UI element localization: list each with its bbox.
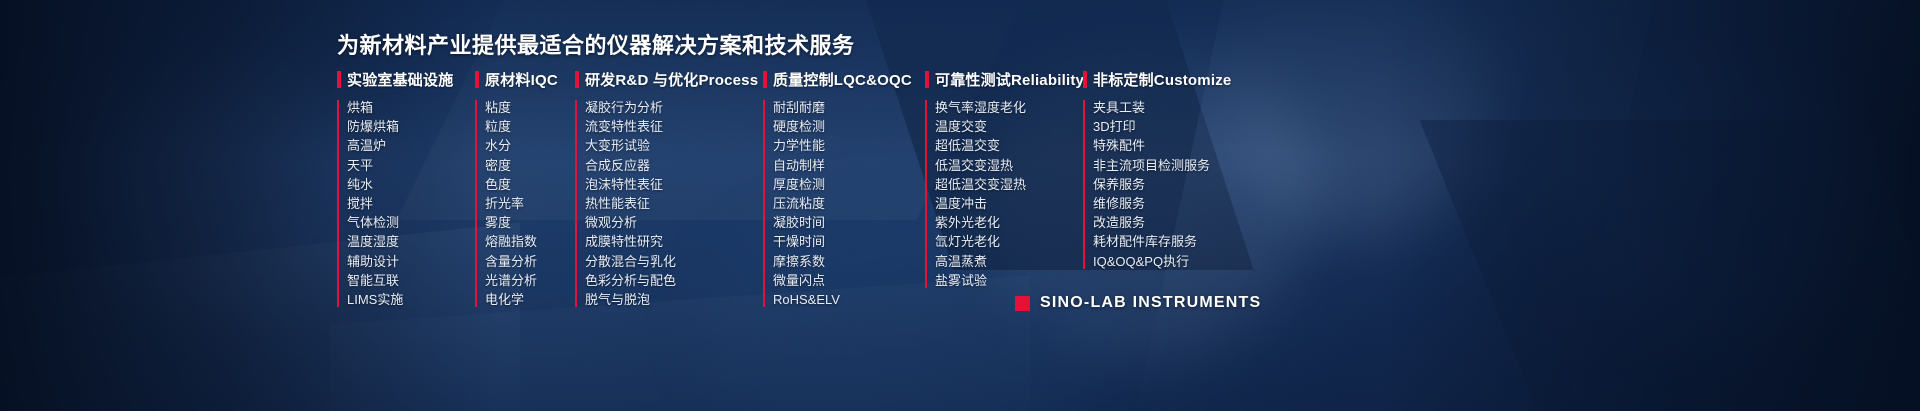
category-item[interactable]: 大变形试验 bbox=[585, 136, 763, 155]
category-title: 原材料IQC bbox=[485, 69, 558, 90]
category-item-list: 凝胶行为分析流变特性表征大变形试验合成反应器泡沫特性表征热性能表征微观分析成膜特… bbox=[575, 98, 763, 309]
category-item[interactable]: 压流粘度 bbox=[773, 194, 925, 213]
category-item[interactable]: 热性能表征 bbox=[585, 194, 763, 213]
category-item-list: 烘箱防爆烘箱高温炉天平纯水搅拌气体检测温度湿度辅助设计智能互联LIMS实施 bbox=[337, 98, 475, 309]
category-item[interactable]: 耗材配件库存服务 bbox=[1093, 232, 1253, 251]
category-header: 质量控制LQC&OQC bbox=[763, 68, 925, 90]
vertical-accent-rule bbox=[475, 100, 477, 307]
category-item[interactable]: 超低温交变 bbox=[935, 136, 1083, 155]
category-item[interactable]: 低温交变湿热 bbox=[935, 156, 1083, 175]
category-item[interactable]: 防爆烘箱 bbox=[347, 117, 475, 136]
category-title: 非标定制Customize bbox=[1093, 69, 1231, 90]
brand-logo: SINO-LAB INSTRUMENTS bbox=[1015, 294, 1261, 312]
category-item[interactable]: LIMS实施 bbox=[347, 290, 475, 309]
category-item[interactable]: 含量分析 bbox=[485, 252, 575, 271]
category-item[interactable]: 密度 bbox=[485, 156, 575, 175]
category-item[interactable]: 力学性能 bbox=[773, 136, 925, 155]
category-item[interactable]: 烘箱 bbox=[347, 98, 475, 117]
vertical-accent-rule bbox=[575, 100, 577, 307]
category-item[interactable]: 色度 bbox=[485, 175, 575, 194]
category-item[interactable]: 摩擦系数 bbox=[773, 252, 925, 271]
category-column: 实验室基础设施烘箱防爆烘箱高温炉天平纯水搅拌气体检测温度湿度辅助设计智能互联LI… bbox=[337, 68, 475, 309]
category-item[interactable]: 超低温交变湿热 bbox=[935, 175, 1083, 194]
category-item[interactable]: 厚度检测 bbox=[773, 175, 925, 194]
category-header: 研发R&D 与优化Process bbox=[575, 68, 763, 90]
category-title: 质量控制LQC&OQC bbox=[773, 69, 912, 90]
category-item[interactable]: RoHS&ELV bbox=[773, 290, 925, 309]
category-item[interactable]: 改造服务 bbox=[1093, 213, 1253, 232]
category-item-list: 粘度粒度水分密度色度折光率雾度熔融指数含量分析光谱分析电化学 bbox=[475, 98, 575, 309]
brand-mark-icon bbox=[1015, 296, 1030, 311]
accent-bar-icon bbox=[763, 71, 767, 88]
accent-bar-icon bbox=[925, 71, 929, 88]
category-item[interactable]: 粒度 bbox=[485, 117, 575, 136]
category-item[interactable]: 高温炉 bbox=[347, 136, 475, 155]
category-item[interactable]: 辅助设计 bbox=[347, 252, 475, 271]
category-item[interactable]: 保养服务 bbox=[1093, 175, 1253, 194]
vertical-accent-rule bbox=[1083, 100, 1085, 269]
category-item[interactable]: 天平 bbox=[347, 156, 475, 175]
category-item[interactable]: 流变特性表征 bbox=[585, 117, 763, 136]
category-item[interactable]: 脱气与脱泡 bbox=[585, 290, 763, 309]
category-item[interactable]: 纯水 bbox=[347, 175, 475, 194]
category-item[interactable]: 换气率湿度老化 bbox=[935, 98, 1083, 117]
category-item[interactable]: 微观分析 bbox=[585, 213, 763, 232]
page-title: 为新材料产业提供最适合的仪器解决方案和技术服务 bbox=[337, 28, 855, 60]
vertical-accent-rule bbox=[337, 100, 339, 307]
category-item[interactable]: 熔融指数 bbox=[485, 232, 575, 251]
category-item-list: 夹具工装3D打印特殊配件非主流项目检测服务保养服务维修服务改造服务耗材配件库存服… bbox=[1083, 98, 1253, 271]
category-item[interactable]: IQ&OQ&PQ执行 bbox=[1093, 252, 1253, 271]
category-item-list: 换气率湿度老化温度交变超低温交变低温交变湿热超低温交变湿热温度冲击紫外光老化氙灯… bbox=[925, 98, 1083, 290]
category-item[interactable]: 温度冲击 bbox=[935, 194, 1083, 213]
category-item[interactable]: 微量闪点 bbox=[773, 271, 925, 290]
category-header: 实验室基础设施 bbox=[337, 68, 475, 90]
category-item[interactable]: 耐刮耐磨 bbox=[773, 98, 925, 117]
category-item[interactable]: 高温蒸煮 bbox=[935, 252, 1083, 271]
accent-bar-icon bbox=[1083, 71, 1087, 88]
category-item[interactable]: 智能互联 bbox=[347, 271, 475, 290]
category-title: 实验室基础设施 bbox=[347, 69, 453, 90]
category-column: 原材料IQC粘度粒度水分密度色度折光率雾度熔融指数含量分析光谱分析电化学 bbox=[475, 68, 575, 309]
category-item[interactable]: 自动制样 bbox=[773, 156, 925, 175]
category-item[interactable]: 3D打印 bbox=[1093, 117, 1253, 136]
category-item[interactable]: 光谱分析 bbox=[485, 271, 575, 290]
category-item[interactable]: 分散混合与乳化 bbox=[585, 252, 763, 271]
category-item[interactable]: 成膜特性研究 bbox=[585, 232, 763, 251]
category-column: 可靠性测试Reliability换气率湿度老化温度交变超低温交变低温交变湿热超低… bbox=[925, 68, 1083, 290]
category-item[interactable]: 电化学 bbox=[485, 290, 575, 309]
category-item[interactable]: 泡沫特性表征 bbox=[585, 175, 763, 194]
category-item-list: 耐刮耐磨硬度检测力学性能自动制样厚度检测压流粘度凝胶时间干燥时间摩擦系数微量闪点… bbox=[763, 98, 925, 309]
category-item[interactable]: 折光率 bbox=[485, 194, 575, 213]
accent-bar-icon bbox=[575, 71, 579, 88]
category-item[interactable]: 氙灯光老化 bbox=[935, 232, 1083, 251]
category-item[interactable]: 硬度检测 bbox=[773, 117, 925, 136]
category-item[interactable]: 特殊配件 bbox=[1093, 136, 1253, 155]
category-item[interactable]: 紫外光老化 bbox=[935, 213, 1083, 232]
category-title: 研发R&D 与优化Process bbox=[585, 69, 758, 90]
category-item[interactable]: 维修服务 bbox=[1093, 194, 1253, 213]
category-item[interactable]: 温度湿度 bbox=[347, 232, 475, 251]
category-item[interactable]: 温度交变 bbox=[935, 117, 1083, 136]
category-column: 非标定制Customize夹具工装3D打印特殊配件非主流项目检测服务保养服务维修… bbox=[1083, 68, 1253, 271]
vertical-accent-rule bbox=[763, 100, 765, 307]
category-item[interactable]: 凝胶行为分析 bbox=[585, 98, 763, 117]
accent-bar-icon bbox=[337, 71, 341, 88]
accent-bar-icon bbox=[475, 71, 479, 88]
category-item[interactable]: 搅拌 bbox=[347, 194, 475, 213]
category-title: 可靠性测试Reliability bbox=[935, 69, 1084, 90]
brand-name: SINO-LAB INSTRUMENTS bbox=[1040, 294, 1261, 312]
category-header: 原材料IQC bbox=[475, 68, 575, 90]
category-item[interactable]: 非主流项目检测服务 bbox=[1093, 156, 1253, 175]
category-item[interactable]: 凝胶时间 bbox=[773, 213, 925, 232]
category-item[interactable]: 粘度 bbox=[485, 98, 575, 117]
category-item[interactable]: 合成反应器 bbox=[585, 156, 763, 175]
vertical-accent-rule bbox=[925, 100, 927, 288]
category-item[interactable]: 水分 bbox=[485, 136, 575, 155]
category-item[interactable]: 雾度 bbox=[485, 213, 575, 232]
category-header: 非标定制Customize bbox=[1083, 68, 1253, 90]
category-item[interactable]: 干燥时间 bbox=[773, 232, 925, 251]
category-column: 质量控制LQC&OQC耐刮耐磨硬度检测力学性能自动制样厚度检测压流粘度凝胶时间干… bbox=[763, 68, 925, 309]
category-header: 可靠性测试Reliability bbox=[925, 68, 1083, 90]
category-item[interactable]: 夹具工装 bbox=[1093, 98, 1253, 117]
category-item[interactable]: 盐雾试验 bbox=[935, 271, 1083, 290]
category-item[interactable]: 气体检测 bbox=[347, 213, 475, 232]
category-columns: 实验室基础设施烘箱防爆烘箱高温炉天平纯水搅拌气体检测温度湿度辅助设计智能互联LI… bbox=[337, 68, 1253, 309]
category-item[interactable]: 色彩分析与配色 bbox=[585, 271, 763, 290]
category-column: 研发R&D 与优化Process凝胶行为分析流变特性表征大变形试验合成反应器泡沫… bbox=[575, 68, 763, 309]
